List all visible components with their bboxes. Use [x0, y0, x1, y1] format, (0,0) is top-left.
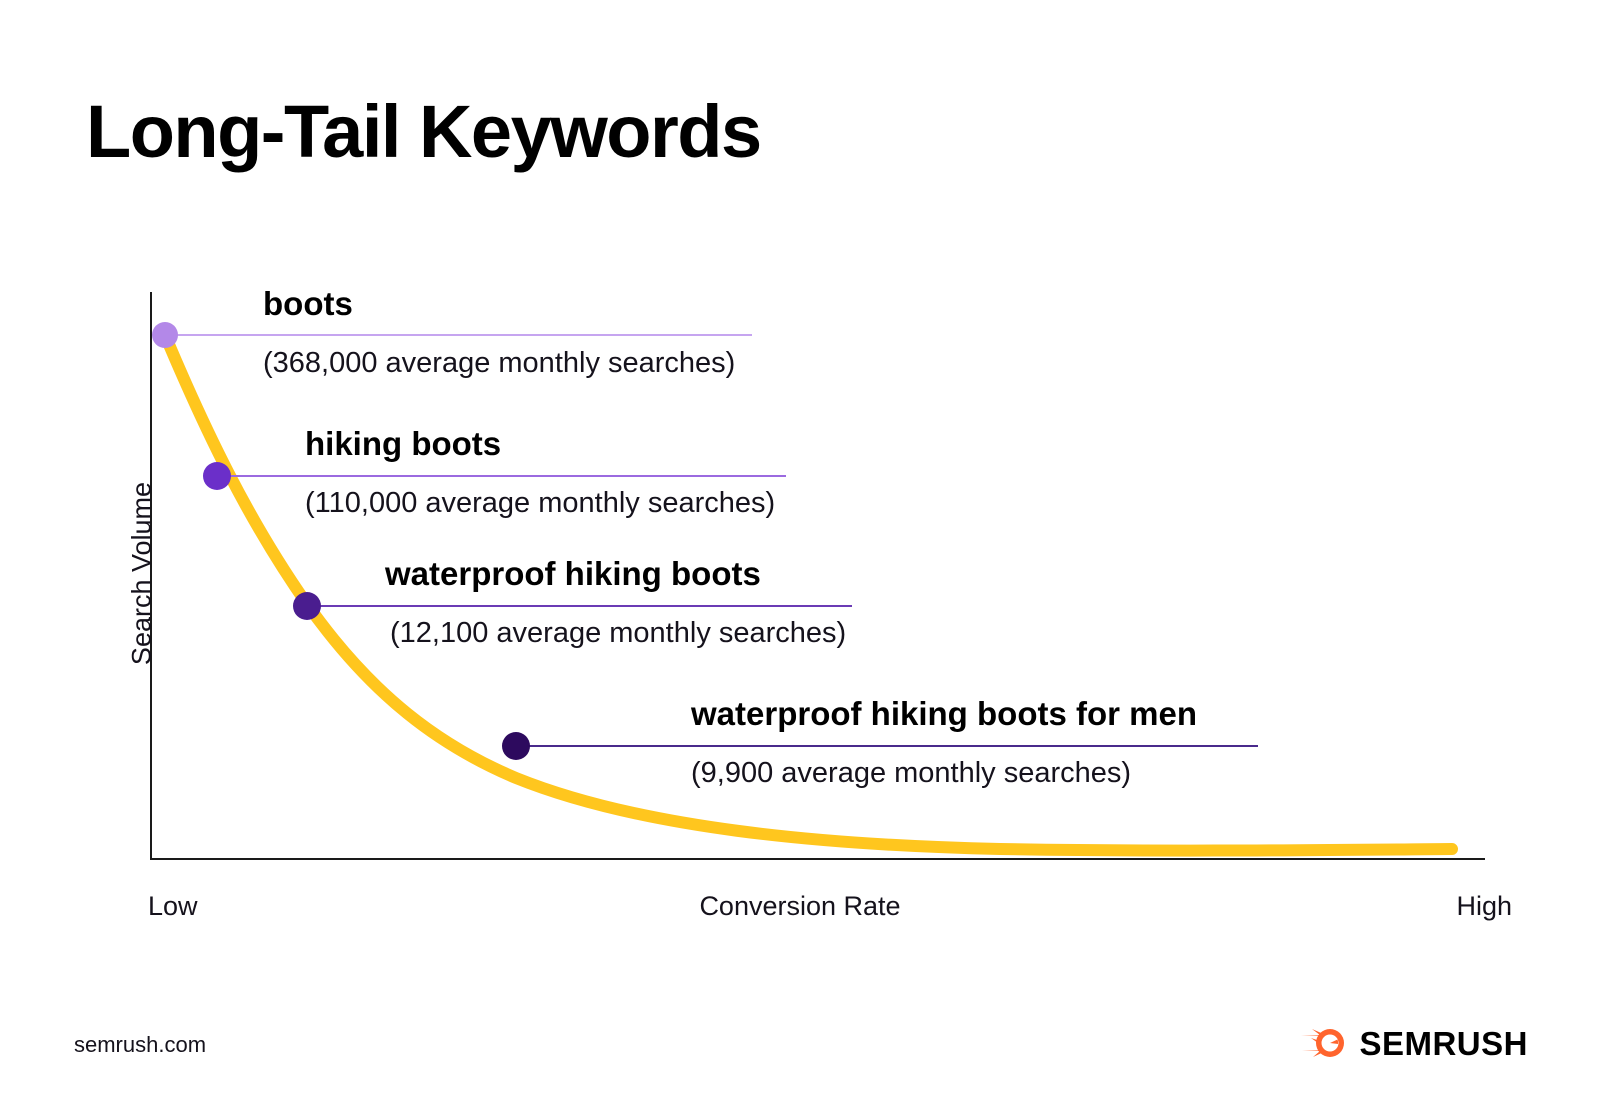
semrush-wordmark: SEMRUSH [1359, 1027, 1528, 1060]
x-axis-label: Conversion Rate [0, 891, 1600, 922]
semrush-logo[interactable]: SEMRUSH [1300, 1026, 1528, 1060]
x-axis-low-label: Low [148, 891, 198, 922]
annotation-leader-line [217, 475, 786, 477]
x-axis-high-label: High [1456, 891, 1512, 922]
annotation-volume-label: (110,000 average monthly searches) [305, 487, 775, 520]
plot-area: Search Volume Conversion Rate Low High b… [0, 0, 1600, 1110]
data-point-dot [502, 732, 530, 760]
annotation-keyword-label: waterproof hiking boots [385, 555, 761, 593]
annotation-volume-label: (9,900 average monthly searches) [691, 757, 1131, 790]
annotation-keyword-label: hiking boots [305, 425, 501, 463]
annotation-keyword-label: boots [263, 285, 353, 323]
demand-curve [0, 0, 1600, 1110]
y-axis-label: Search Volume [127, 424, 158, 724]
long-tail-keywords-infographic: Long-Tail Keywords Search Volume Convers… [0, 0, 1600, 1110]
annotation-leader-line [165, 334, 752, 336]
annotation-volume-label: (368,000 average monthly searches) [263, 347, 735, 380]
annotation-keyword-label: waterproof hiking boots for men [691, 695, 1197, 733]
annotation-leader-line [516, 745, 1258, 747]
footer-url[interactable]: semrush.com [74, 1032, 206, 1058]
data-point-dot [152, 322, 178, 348]
annotation-volume-label: (12,100 average monthly searches) [390, 617, 846, 650]
x-axis-line [150, 858, 1485, 860]
semrush-comet-icon [1300, 1026, 1346, 1060]
data-point-dot [203, 462, 231, 490]
annotation-leader-line [307, 605, 852, 607]
data-point-dot [293, 592, 321, 620]
